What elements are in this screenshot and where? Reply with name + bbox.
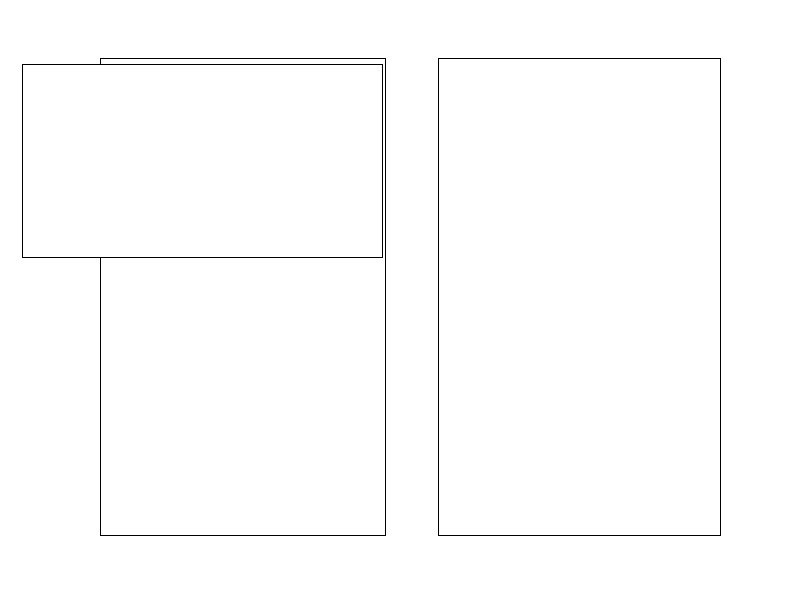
- histogram-axes: [438, 58, 721, 536]
- figure-canvas: [0, 0, 800, 600]
- scatter-legend: [22, 64, 383, 258]
- histogram-data-layer: [439, 59, 720, 535]
- histogram-clip: [439, 59, 720, 535]
